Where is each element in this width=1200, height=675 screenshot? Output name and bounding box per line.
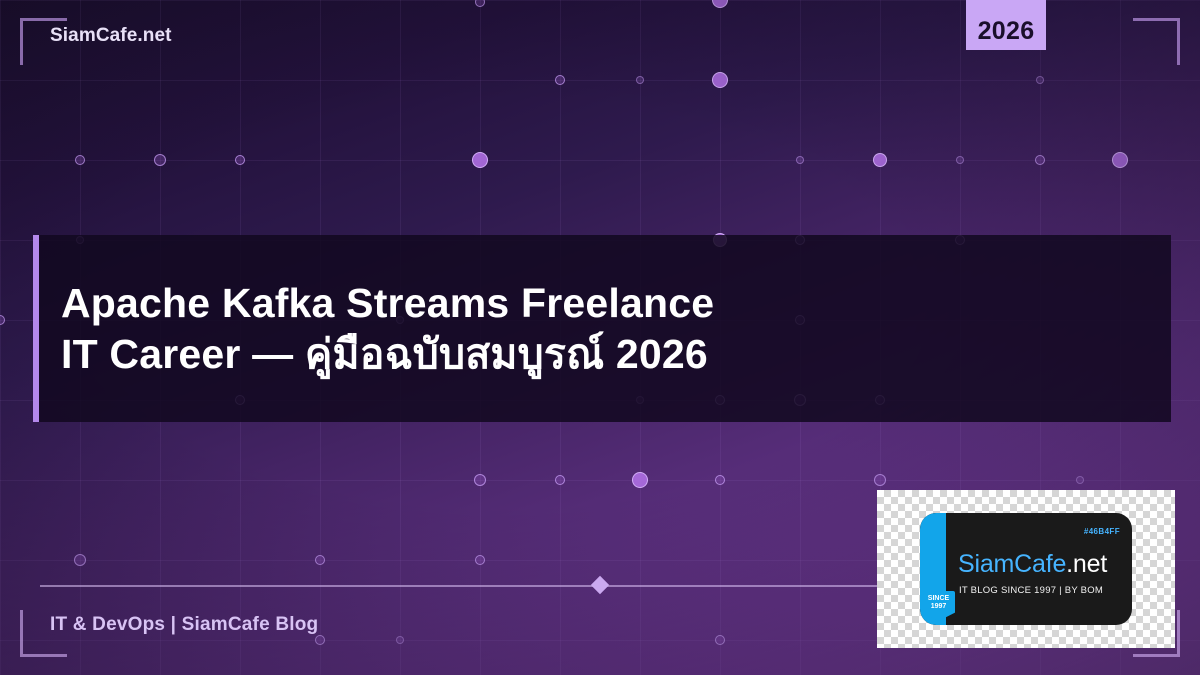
decorative-dot <box>715 635 725 645</box>
logo-hex-code: #46B4FF <box>1084 527 1120 536</box>
decorative-dot <box>712 0 728 8</box>
decorative-dot <box>715 475 725 485</box>
decorative-dot <box>874 474 886 486</box>
decorative-dot <box>475 555 485 565</box>
decorative-dot <box>74 554 86 566</box>
corner-bracket-top-right-icon <box>1133 18 1180 65</box>
logo-image: SINCE 1997 #46B4FF SiamCafe.net IT BLOG … <box>920 513 1132 625</box>
title-band: Apache Kafka Streams Freelance IT Career… <box>33 235 1171 422</box>
decorative-dot <box>396 636 404 644</box>
ribbon-line-2: 1997 <box>922 603 955 611</box>
decorative-dot <box>712 72 728 88</box>
decorative-dot <box>75 155 85 165</box>
decorative-dot <box>636 76 644 84</box>
decorative-dot <box>474 474 486 486</box>
decorative-dot <box>1036 76 1044 84</box>
ribbon-line-1: SINCE <box>922 595 955 603</box>
logo-card: SINCE 1997 #46B4FF SiamCafe.net IT BLOG … <box>877 490 1175 648</box>
logo-wordmark-suffix: .net <box>1066 550 1107 578</box>
decorative-dot <box>555 475 565 485</box>
logo-tagline: IT BLOG SINCE 1997 | BY BOM <box>959 585 1103 596</box>
decorative-dot <box>1076 476 1084 484</box>
logo-wordmark: SiamCafe.net <box>958 550 1107 579</box>
decorative-dot <box>154 154 166 166</box>
decorative-dot <box>1035 155 1045 165</box>
decorative-dot <box>632 472 648 488</box>
decorative-dot <box>956 156 964 164</box>
brand-name: SiamCafe.net <box>50 25 172 47</box>
decorative-dot <box>555 75 565 85</box>
divider-diamond-icon <box>591 576 609 594</box>
decorative-dot <box>796 156 804 164</box>
decorative-dot <box>315 635 325 645</box>
page-title: Apache Kafka Streams Freelance IT Career… <box>39 278 781 378</box>
decorative-dot <box>873 153 887 167</box>
footer-caption: IT & DevOps | SiamCafe Blog <box>50 614 318 636</box>
year-badge: 2026 <box>966 0 1046 50</box>
decorative-dot <box>1112 152 1128 168</box>
logo-wordmark-primary: SiamCafe <box>958 550 1066 578</box>
decorative-dot <box>235 155 245 165</box>
decorative-dot <box>475 0 485 7</box>
banner-canvas: SiamCafe.net 2026 Apache Kafka Streams F… <box>0 0 1200 675</box>
decorative-dot <box>472 152 488 168</box>
decorative-dot <box>315 555 325 565</box>
decorative-dot <box>0 315 5 325</box>
